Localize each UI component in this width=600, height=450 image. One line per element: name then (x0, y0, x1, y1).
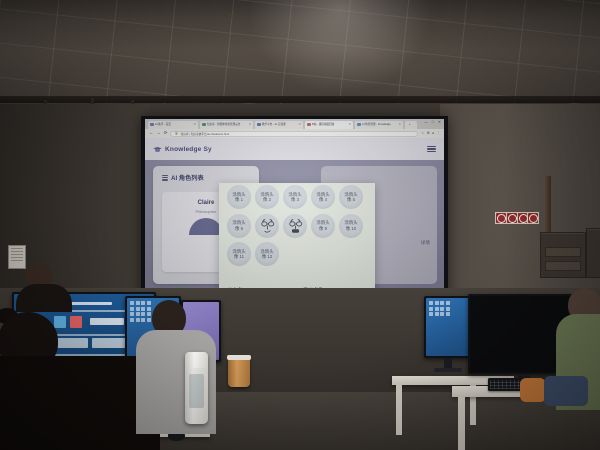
ceiling-beam (0, 96, 600, 103)
reload-icon[interactable]: ⟳ (164, 131, 168, 135)
avatar-option-label-12: 涂鸦头 像 12 (260, 249, 273, 259)
tab-title-0: AI 助手 - 首页 (155, 123, 171, 126)
avatar-option-label-5: 涂鸦头 像 5 (344, 192, 357, 202)
doodle-face-icon-7 (257, 215, 278, 236)
rear-monitor-windows (424, 296, 472, 358)
wall-electrical-panel (540, 232, 586, 278)
avatar-option-12[interactable]: 涂鸦头 像 12 (255, 242, 279, 266)
url-text: 知识库 | 知识系统平台/ai-characters.html (180, 132, 228, 136)
avatar-option-8[interactable] (283, 214, 307, 238)
avatar-option-label-6: 涂鸦头 像 6 (232, 220, 245, 230)
app-brand-label: Knowledge Sy (165, 146, 212, 153)
browser-tab-3[interactable]: B站 - 课程视频回放 ✕ (305, 121, 353, 129)
browser-address-bar[interactable]: ← → ⟳ 🔒 知识库 | 知识系统平台/ai-characters.html … (145, 129, 444, 138)
classroom-photo-scene: AI 助手 - 首页 ✕ 知识库 - 智能体角色管理后台 ✕ 教学平台 - AI… (0, 0, 600, 450)
bottle-cap (186, 352, 207, 368)
page-content: AI 角色列表 Claire Philosopher 详情 涂鸦头 像 (145, 160, 444, 305)
browser-menu-icon[interactable]: ⋮ (437, 132, 440, 135)
ceiling-light-patch (250, 0, 430, 92)
create-ai-character-modal[interactable]: 涂鸦头 像 1 涂鸦头 像 2 涂鸦头 像 3 涂鸦头 像 4 涂鸦头 像 5 … (219, 183, 375, 305)
avatar-option-3[interactable]: 涂鸦头 像 3 (283, 185, 307, 209)
avatar-option-label-4: 涂鸦头 像 4 (316, 192, 329, 202)
rear-monitor-screen (426, 298, 470, 356)
avatar-option-2[interactable]: 涂鸦头 像 2 (255, 185, 279, 209)
safety-signs (495, 212, 539, 224)
tab-close-icon-0[interactable]: ✕ (193, 123, 196, 126)
no-entry-sign (518, 213, 528, 223)
arm-orange-cuff (520, 378, 546, 402)
tab-favicon-0 (150, 123, 154, 127)
tab-title-1: 知识库 - 智能体角色管理后台 (207, 123, 240, 126)
no-smoking-sign (496, 213, 506, 223)
avatar-option-6[interactable]: 涂鸦头 像 6 (227, 214, 251, 238)
avatar-option-label-3: 涂鸦头 像 3 (288, 192, 301, 202)
no-phone-sign (528, 213, 538, 223)
avatar-option-7[interactable] (255, 214, 279, 238)
projected-browser-window[interactable]: AI 助手 - 首页 ✕ 知识库 - 智能体角色管理后台 ✕ 教学平台 - AI… (145, 119, 444, 305)
ai-role-list-header: AI 角色列表 (153, 166, 259, 182)
new-tab-button[interactable]: + (405, 121, 417, 129)
wall-conduit (545, 176, 551, 236)
app-header: Knowledge Sy (145, 138, 444, 160)
forward-icon[interactable]: → (156, 131, 160, 135)
desk-leg-c (458, 397, 465, 450)
back-icon[interactable]: ← (149, 131, 153, 135)
browser-tab-4[interactable]: AI 角色管理 - Knowledge ✕ (355, 121, 403, 129)
tab-favicon-2 (257, 123, 261, 127)
detail-panel-tag: 详情 (421, 240, 430, 246)
avatar-option-label-10: 涂鸦头 像 10 (344, 220, 357, 230)
avatar-option-5[interactable]: 涂鸦头 像 5 (339, 185, 363, 209)
web-page: Knowledge Sy AI 角色列表 Claire Philosopher (145, 138, 444, 305)
tab-close-icon-1[interactable]: ✕ (248, 123, 251, 126)
window-close-button[interactable]: ✕ (438, 121, 441, 125)
tab-favicon-1 (202, 123, 206, 127)
person-right-arm (520, 376, 582, 416)
window-minimize-button[interactable]: — (424, 121, 428, 125)
tab-close-icon-4[interactable]: ✕ (398, 123, 401, 126)
url-input[interactable]: 🔒 知识库 | 知识系统平台/ai-characters.html (170, 131, 418, 137)
desk-leg-a (396, 385, 402, 435)
avatar-option-label-9: 涂鸦头 像 9 (316, 220, 329, 230)
window-controls[interactable]: — □ ✕ (424, 121, 441, 125)
avatar-option-1[interactable]: 涂鸦头 像 1 (227, 185, 251, 209)
tab-title-4: AI 角色管理 - Knowledge (362, 123, 391, 126)
bottle-window (189, 374, 204, 408)
coffee-cup (228, 355, 250, 387)
browser-tab-1[interactable]: 知识库 - 智能体角色管理后台 ✕ (200, 121, 253, 129)
avatar-picker-grid[interactable]: 涂鸦头 像 1 涂鸦头 像 2 涂鸦头 像 3 涂鸦头 像 4 涂鸦头 像 5 … (227, 185, 369, 266)
app-brand[interactable]: Knowledge Sy (153, 146, 212, 153)
avatar-option-4[interactable]: 涂鸦头 像 4 (311, 185, 335, 209)
tab-favicon-3 (307, 123, 311, 127)
window-maximize-button[interactable]: □ (432, 121, 434, 125)
avatar-option-10[interactable]: 涂鸦头 像 10 (339, 214, 363, 238)
hamburger-menu-icon[interactable] (427, 146, 436, 153)
person-background-left (18, 262, 74, 306)
wall-electrical-panel-secondary (586, 228, 600, 278)
tab-favicon-4 (357, 123, 361, 127)
browser-tab-0[interactable]: AI 助手 - 首页 ✕ (148, 121, 198, 129)
star-icon[interactable]: ☆ (421, 132, 424, 135)
avatar-option-label-2: 涂鸦头 像 2 (260, 192, 273, 202)
tab-title-2: 教学平台 - AI 实训课 (262, 123, 286, 126)
water-bottle (185, 352, 208, 424)
omnibox-actions[interactable]: ☆ ⊞ ● ⋮ (421, 132, 440, 135)
avatar-option-label-1: 涂鸦头 像 1 (232, 192, 245, 202)
browser-tab-bar[interactable]: AI 助手 - 首页 ✕ 知识库 - 智能体角色管理后台 ✕ 教学平台 - AI… (145, 119, 444, 129)
avatar-option-11[interactable]: 涂鸦头 像 11 (227, 242, 251, 266)
doodle-face-icon-8 (285, 215, 306, 236)
list-icon (162, 175, 168, 181)
avatar-option-9[interactable]: 涂鸦头 像 9 (311, 214, 335, 238)
tab-title-3: B站 - 课程视频回放 (312, 123, 334, 126)
avatar-option-label-11: 涂鸦头 像 11 (232, 249, 245, 259)
graduation-cap-icon (153, 146, 162, 152)
rear-monitor-base (434, 368, 462, 372)
tab-close-icon-3[interactable]: ✕ (348, 123, 351, 126)
browser-tab-2[interactable]: 教学平台 - AI 实训课 ✕ (255, 121, 303, 129)
lock-icon: 🔒 (174, 132, 178, 135)
avatar (189, 218, 223, 235)
profile-icon[interactable]: ● (432, 132, 434, 135)
ai-role-list-title: AI 角色列表 (171, 173, 204, 182)
tab-close-icon-2[interactable]: ✕ (298, 123, 301, 126)
arm-denim (544, 376, 588, 406)
new-tab-label: + (409, 123, 411, 126)
extensions-icon[interactable]: ⊞ (427, 132, 430, 135)
cup-lid (227, 355, 251, 360)
rear-desktop-icon-grid (429, 301, 450, 316)
body-background-left (16, 284, 72, 312)
no-fire-sign (507, 213, 517, 223)
